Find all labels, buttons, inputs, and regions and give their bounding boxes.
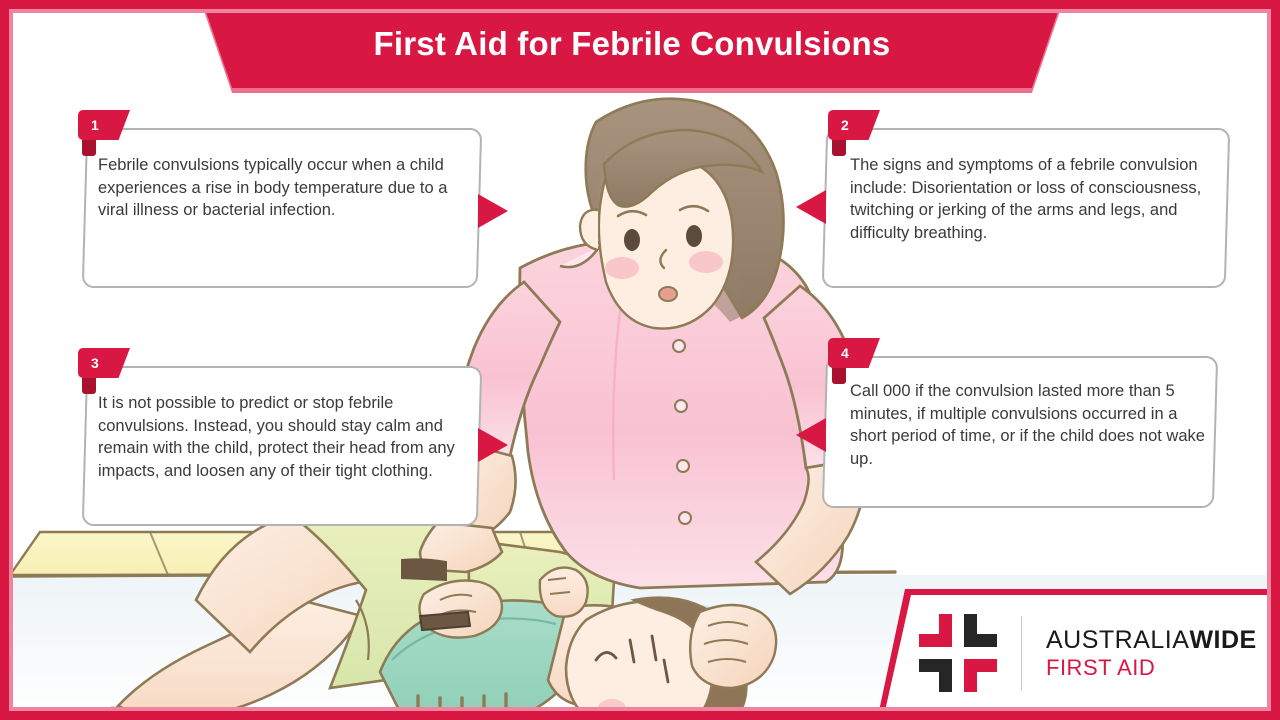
- logo-tagline: FIRST AID: [1046, 655, 1257, 681]
- callout-3-number-fold: [82, 376, 96, 394]
- callout-3-text: It is not possible to predict or stop fe…: [98, 392, 464, 482]
- callout-4-number: 4: [828, 346, 849, 360]
- callout-1: 1 Febrile convulsions typically occur wh…: [84, 128, 480, 288]
- callout-2-text: The signs and symptoms of a febrile conv…: [850, 154, 1210, 244]
- callout-3: 3 It is not possible to predict or stop …: [84, 366, 480, 526]
- logo-wordmark: AUSTRALIAWIDE FIRST AID: [1046, 626, 1257, 681]
- callout-4-number-fold: [832, 366, 846, 384]
- callout-1-number-fold: [82, 138, 96, 156]
- cross-arm-top-left: [919, 614, 952, 647]
- first-aid-cross-icon: [919, 614, 997, 692]
- cross-arm-bottom-left: [919, 659, 952, 692]
- callout-2-number-fold: [832, 138, 846, 156]
- callout-2: 2 The signs and symptoms of a febrile co…: [824, 128, 1228, 288]
- logo-brand-australia: AUSTRALIA: [1046, 626, 1189, 654]
- title-banner: First Aid for Febrile Convulsions: [202, 0, 1062, 88]
- logo-brand-wide: WIDE: [1189, 626, 1256, 654]
- callout-2-number: 2: [828, 118, 849, 132]
- cross-arm-bottom-right: [964, 659, 997, 692]
- callout-4-text: Call 000 if the convulsion lasted more t…: [850, 380, 1206, 470]
- cross-arm-top-right: [964, 614, 997, 647]
- callout-1-pointer-icon: [478, 194, 508, 228]
- callout-1-text: Febrile convulsions typically occur when…: [98, 154, 458, 222]
- callout-1-number: 1: [78, 118, 99, 132]
- brand-logo-panel: AUSTRALIAWIDE FIRST AID: [879, 589, 1271, 711]
- callout-4: 4 Call 000 if the convulsion lasted more…: [824, 356, 1216, 508]
- callout-3-pointer-icon: [478, 428, 508, 462]
- logo-panel-inner: AUSTRALIAWIDE FIRST AID: [885, 595, 1271, 711]
- infographic-canvas: First Aid for Febrile Convulsions 1 Febr…: [0, 0, 1280, 720]
- callout-2-pointer-icon: [796, 190, 826, 224]
- callout-3-number: 3: [78, 356, 99, 370]
- callout-4-pointer-icon: [796, 418, 826, 452]
- page-title: First Aid for Febrile Convulsions: [374, 25, 891, 63]
- logo-divider: [1021, 616, 1022, 690]
- logo-brand-name: AUSTRALIAWIDE: [1046, 626, 1257, 655]
